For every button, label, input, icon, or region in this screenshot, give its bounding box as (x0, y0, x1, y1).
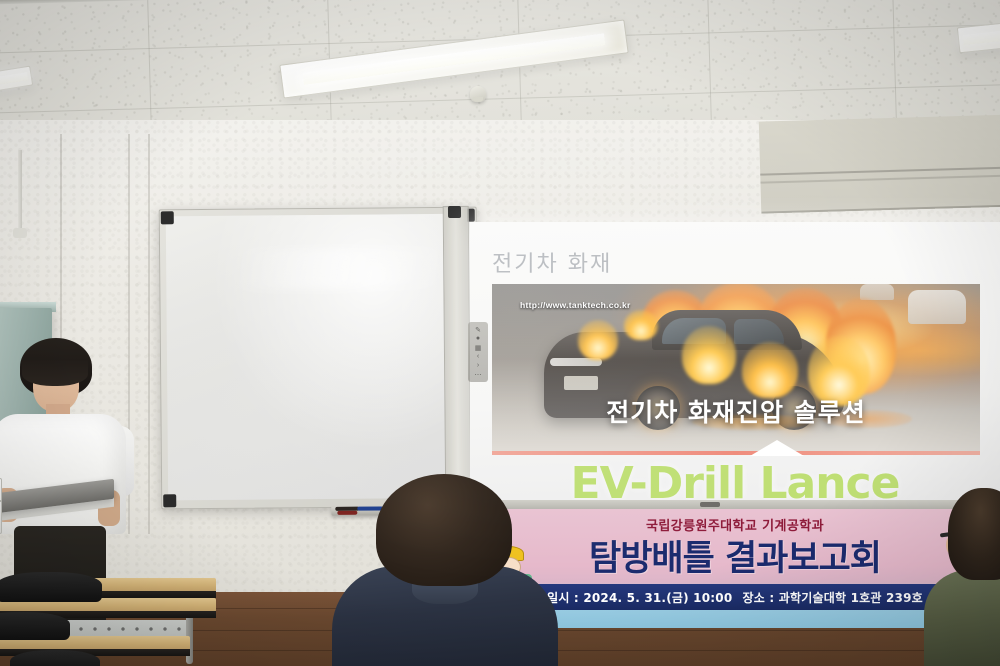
pen-icon[interactable]: ✎ (473, 326, 484, 334)
chair-middle (0, 612, 70, 640)
audience-member-center (338, 474, 548, 666)
classroom-photo-scene: 전기차 화재 (0, 0, 1000, 666)
wall-conduit (18, 150, 22, 236)
pointer-icon[interactable]: ● (473, 335, 484, 343)
more-options-icon[interactable]: ⋯ (473, 371, 484, 379)
audience-center-hair (376, 474, 512, 586)
banner-datetime: 일시 : 2024. 5. 31.(금) 10:00 (547, 589, 732, 606)
whiteboard (159, 207, 480, 510)
sprinkler-head (470, 86, 486, 102)
slide-grid-icon[interactable]: ▦ (473, 344, 484, 352)
whiteboard-surface (166, 214, 472, 501)
screen-pull-knob[interactable] (700, 502, 720, 507)
lectern (0, 478, 114, 598)
previous-icon[interactable]: ‹ (473, 353, 484, 361)
powerpoint-presenter-toolbar[interactable]: ✎ ● ▦ ‹ › ⋯ (468, 322, 488, 382)
slide-title: 전기차 화재 (492, 246, 612, 278)
chair-front (10, 650, 100, 666)
presentation-slide: 전기차 화재 (470, 222, 1000, 512)
slide-photo-burning-ev: http://www.tanktech.co.kr 전기차 화재진압 솔루션 (492, 284, 980, 451)
banner-location: 장소 : 과학기술대학 1호관 239호 (743, 589, 923, 606)
slide-photo-overlay-text: 전기차 화재진압 솔루션 (492, 393, 980, 429)
lectern-equipment (0, 478, 2, 534)
audience-right-hair (948, 488, 1000, 580)
conduit-cap (13, 228, 27, 238)
banner-title: 탐방배틀 결과보고회 (470, 530, 1000, 581)
audience-right-top (924, 570, 1000, 666)
photo-watermark-url: http://www.tanktech.co.kr (520, 300, 631, 310)
audience-member-right (938, 488, 1000, 666)
slide-accent-rule (492, 451, 980, 455)
banner-detail-bar: 일시 : 2024. 5. 31.(금) 10:00 장소 : 과학기술대학 1… (532, 584, 938, 610)
projection-screen: 전기차 화재 (470, 222, 1000, 512)
wall-soffit (759, 114, 1000, 213)
next-icon[interactable]: › (473, 362, 484, 370)
